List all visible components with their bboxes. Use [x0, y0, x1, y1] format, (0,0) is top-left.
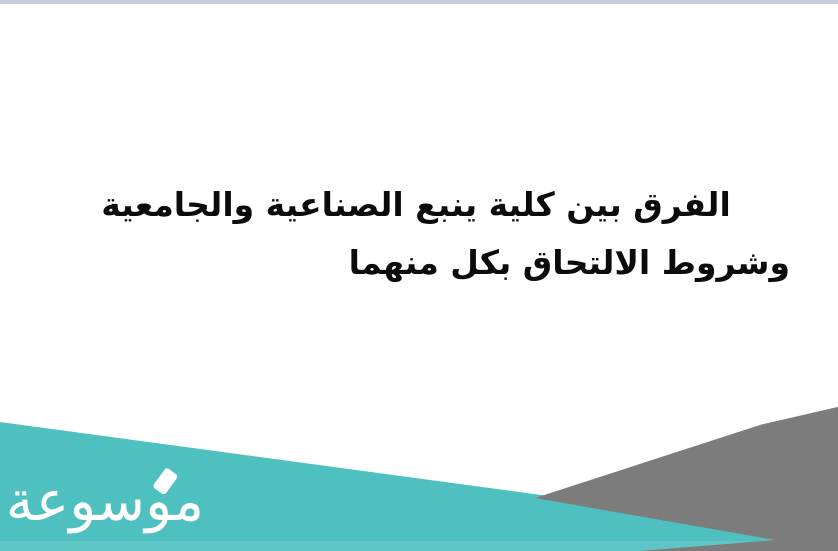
brand-logo[interactable]: موسوعة موسوعة [8, 463, 208, 541]
top-accent-strip [0, 0, 838, 4]
page-title: الفرق بين كلية ينبع الصناعية والجامعية و… [40, 176, 792, 292]
slide-canvas: الفرق بين كلية ينبع الصناعية والجامعية و… [0, 0, 838, 551]
brand-logo-wordmark: موسوعة [8, 463, 208, 541]
page-title-line-2: وشروط الالتحاق بكل منهما [40, 234, 792, 292]
page-title-line-1: الفرق بين كلية ينبع الصناعية والجامعية [40, 176, 792, 234]
